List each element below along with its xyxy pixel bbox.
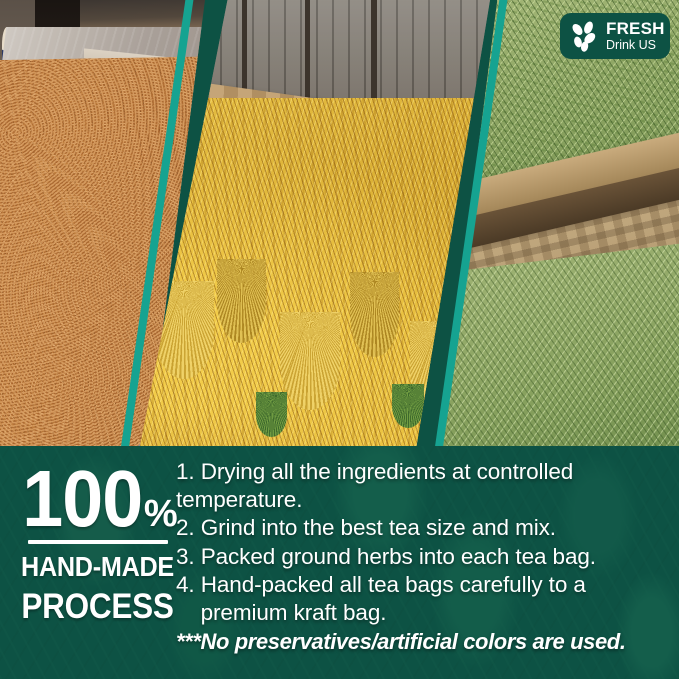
process-steps-list: 1. Drying all the ingredients at control… <box>176 458 676 656</box>
photo2-bundle-fan <box>217 259 266 344</box>
process-step-1: 1. Drying all the ingredients at control… <box>176 458 676 514</box>
logo-line-fresh: FRESH <box>606 20 665 37</box>
hand-made-badge: 100% HAND-MADE PROCESS <box>0 464 195 627</box>
percent-sign: % <box>144 495 178 533</box>
percent-number: 100 <box>23 464 143 534</box>
photo2-green-tuft <box>392 384 424 429</box>
process-info-panel: 100% HAND-MADE PROCESS 1. Drying all the… <box>0 446 679 679</box>
product-infographic: FRESH Drink US 100% HAND-MADE PROCESS 1.… <box>0 0 679 679</box>
photo3-tea-leaves-bottom <box>440 242 679 446</box>
no-preservatives-note: ***No preservatives/artificial colors ar… <box>176 628 676 656</box>
photo2-green-tuft <box>256 392 288 437</box>
logo-text-block: FRESH Drink US <box>606 20 665 52</box>
fresh-drink-us-logo[interactable]: FRESH Drink US <box>560 13 670 59</box>
process-step-2: 2. Grind into the best tea size and mix. <box>176 514 676 542</box>
process-step-3: 3. Packed ground herbs into each tea bag… <box>176 543 676 571</box>
photo2-bundle-fan <box>280 312 340 410</box>
process-step-4: 4. Hand-packed all tea bags carefully to… <box>176 571 676 627</box>
badge-line-hand-made: HAND-MADE <box>10 551 186 583</box>
photo-strip <box>0 0 679 446</box>
badge-line-process: PROCESS <box>10 587 186 627</box>
leaf-cluster-icon <box>569 21 599 52</box>
photo2-bundle-fan <box>350 272 399 357</box>
percent-block: 100% <box>17 464 177 534</box>
logo-line-drink-us: Drink US <box>606 39 665 52</box>
